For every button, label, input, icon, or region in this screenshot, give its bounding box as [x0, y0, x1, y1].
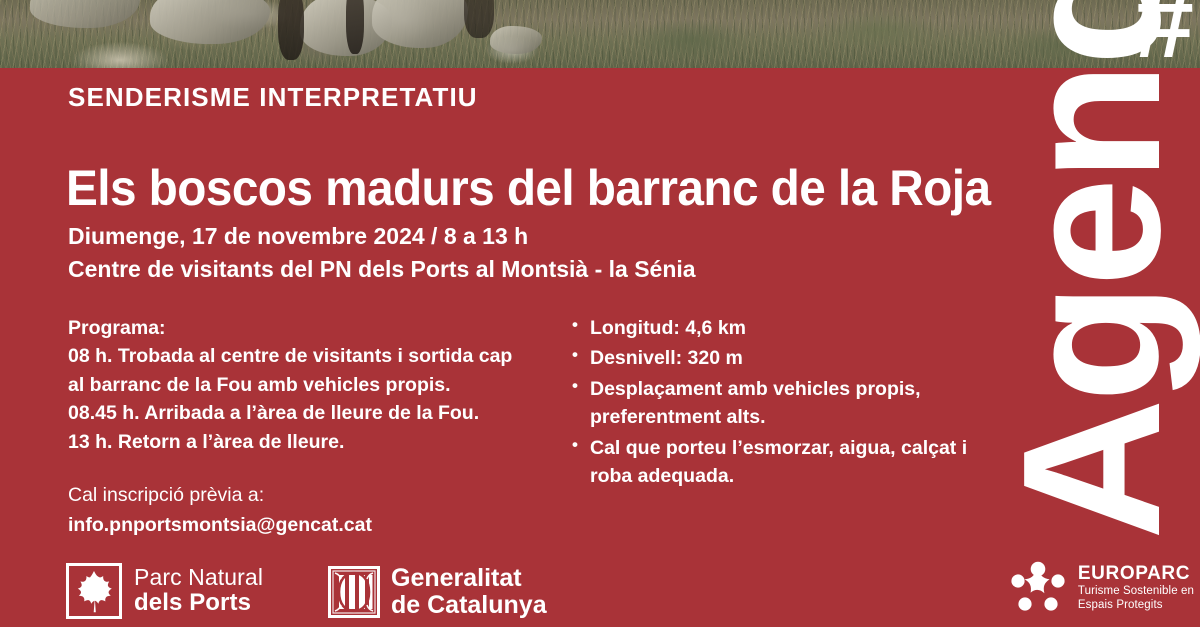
- logo-line-1: Parc Natural: [134, 565, 263, 590]
- signup-block: Cal inscripció prèvia a: info.pnportsmon…: [68, 481, 560, 540]
- logo-line-2: dels Ports: [134, 590, 263, 616]
- list-item: Cal que porteu l’esmorzar, aigua, calçat…: [590, 434, 970, 491]
- page-title: Els boscos madurs del barranc de la Roja: [66, 159, 990, 217]
- event-date: Diumenge, 17 de novembre 2024 / 8 a 13 h: [68, 220, 696, 253]
- details-column: Longitud: 4,6 km Desnivell: 320 m Despla…: [570, 314, 970, 493]
- logo-line-3: Espais Protegits: [1078, 598, 1194, 612]
- header-photo: [0, 0, 1200, 68]
- program-heading: Programa:: [68, 314, 560, 342]
- list-item: Longitud: 4,6 km: [590, 314, 970, 342]
- europarc-wordmark: EUROPARC Turisme Sostenible en Espais Pr…: [1078, 564, 1194, 613]
- parc-natural-wordmark: Parc Natural dels Ports: [134, 565, 263, 617]
- event-when-where: Diumenge, 17 de novembre 2024 / 8 a 13 h…: [68, 220, 696, 285]
- signup-lead: Cal inscripció prèvia a:: [68, 481, 560, 510]
- details-list: Longitud: 4,6 km Desnivell: 320 m Despla…: [570, 314, 970, 491]
- program-item: 08.45 h. Arribada a l’àrea de lleure de …: [68, 399, 560, 427]
- program-column: Programa: 08 h. Trobada al centre de vis…: [68, 314, 560, 540]
- kicker-label: SENDERISME INTERPRETATIU: [68, 82, 478, 113]
- logo-line-1: Generalitat: [391, 565, 547, 592]
- event-venue: Centre de visitants del PN dels Ports al…: [68, 253, 696, 286]
- signup-email[interactable]: info.pnportsmontsia@gencat.cat: [68, 511, 560, 540]
- logo-line-2: Turisme Sostenible en: [1078, 584, 1194, 598]
- footer-logos: Parc Natural dels Ports Gen: [0, 541, 1200, 627]
- program-item: 08 h. Trobada al centre de visitants i s…: [68, 342, 560, 370]
- logo-europarc: EUROPARC Turisme Sostenible en Espais Pr…: [1007, 559, 1194, 617]
- hashtag-icon: #: [1134, 0, 1194, 74]
- europarc-people-star-icon: [1007, 559, 1069, 617]
- logo-line-2: de Catalunya: [391, 592, 547, 619]
- logo-line-1: EUROPARC: [1078, 564, 1194, 585]
- leaf-icon: [66, 563, 122, 619]
- list-item: Desplaçament amb vehicles propis, prefer…: [590, 375, 970, 432]
- program-item: al barranc de la Fou amb vehicles propis…: [68, 371, 560, 399]
- logo-parc-natural-dels-ports: Parc Natural dels Ports: [66, 563, 263, 619]
- generalitat-wordmark: Generalitat de Catalunya: [391, 565, 547, 619]
- program-item: 13 h. Retorn a l’àrea de lleure.: [68, 428, 560, 456]
- logo-generalitat-de-catalunya: Generalitat de Catalunya: [328, 565, 547, 619]
- poster: Agenda # SENDERISME INTERPRETATIU Els bo…: [0, 0, 1200, 627]
- list-item: Desnivell: 320 m: [590, 344, 970, 372]
- generalitat-shield-icon: [328, 566, 380, 618]
